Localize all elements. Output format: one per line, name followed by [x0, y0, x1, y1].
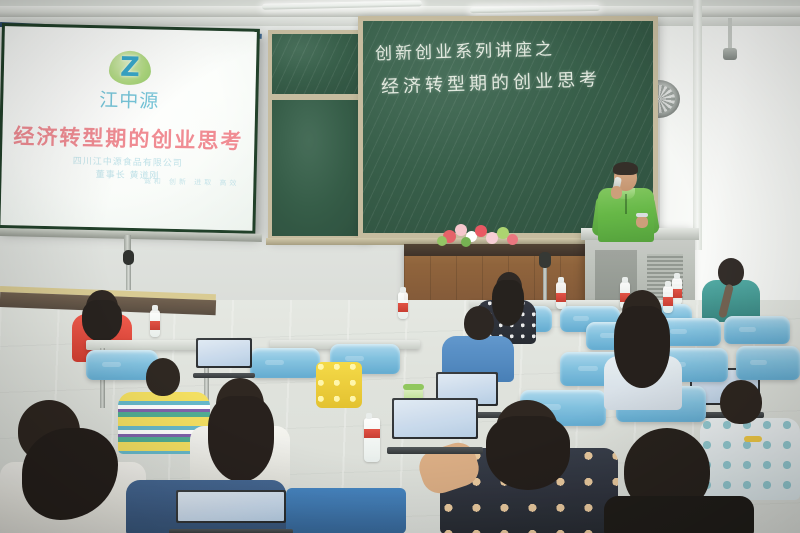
ceiling-hook — [728, 18, 732, 52]
audience-person — [440, 306, 516, 380]
backpack — [316, 362, 362, 408]
water-bottle — [398, 292, 408, 319]
backpack — [286, 488, 406, 533]
laptop[interactable] — [392, 398, 478, 454]
projector-screen: Z 江中源 经济转型期的创业思考 四川江中源食品有限公司 董事长 黄道刚 诚和 … — [0, 23, 260, 234]
laptop[interactable] — [176, 490, 286, 533]
audience-person — [700, 258, 762, 320]
blackboard-panel-left — [268, 30, 368, 240]
seat — [724, 316, 790, 344]
slide-footer: 诚和 创新 进取 高效 — [144, 176, 240, 188]
wall-pillar — [693, 0, 702, 250]
water-bottle — [556, 282, 566, 309]
water-bottle — [150, 310, 160, 337]
slide-logo: Z 江中源 — [3, 48, 256, 116]
seat — [736, 346, 800, 380]
audience-person — [604, 428, 754, 533]
blackboard-line-1: 创新创业系列讲座之 — [375, 35, 556, 65]
flower-arrangement — [437, 222, 523, 252]
seat — [250, 348, 320, 378]
mic-stand-left — [126, 262, 131, 290]
lecture-hall-photo: Z 江中源 经济转型期的创业思考 四川江中源食品有限公司 董事长 黄道刚 诚和 … — [0, 0, 800, 533]
leaf-z-emblem-icon: Z — [109, 50, 152, 85]
audience-person — [600, 290, 684, 410]
slide-title: 经济转型期的创业思考 — [2, 120, 255, 156]
screen-support — [124, 235, 131, 251]
brand-name: 江中源 — [3, 83, 256, 116]
water-bottle — [364, 418, 380, 462]
logo-letter: Z — [109, 53, 152, 81]
speaker-person — [594, 164, 658, 244]
